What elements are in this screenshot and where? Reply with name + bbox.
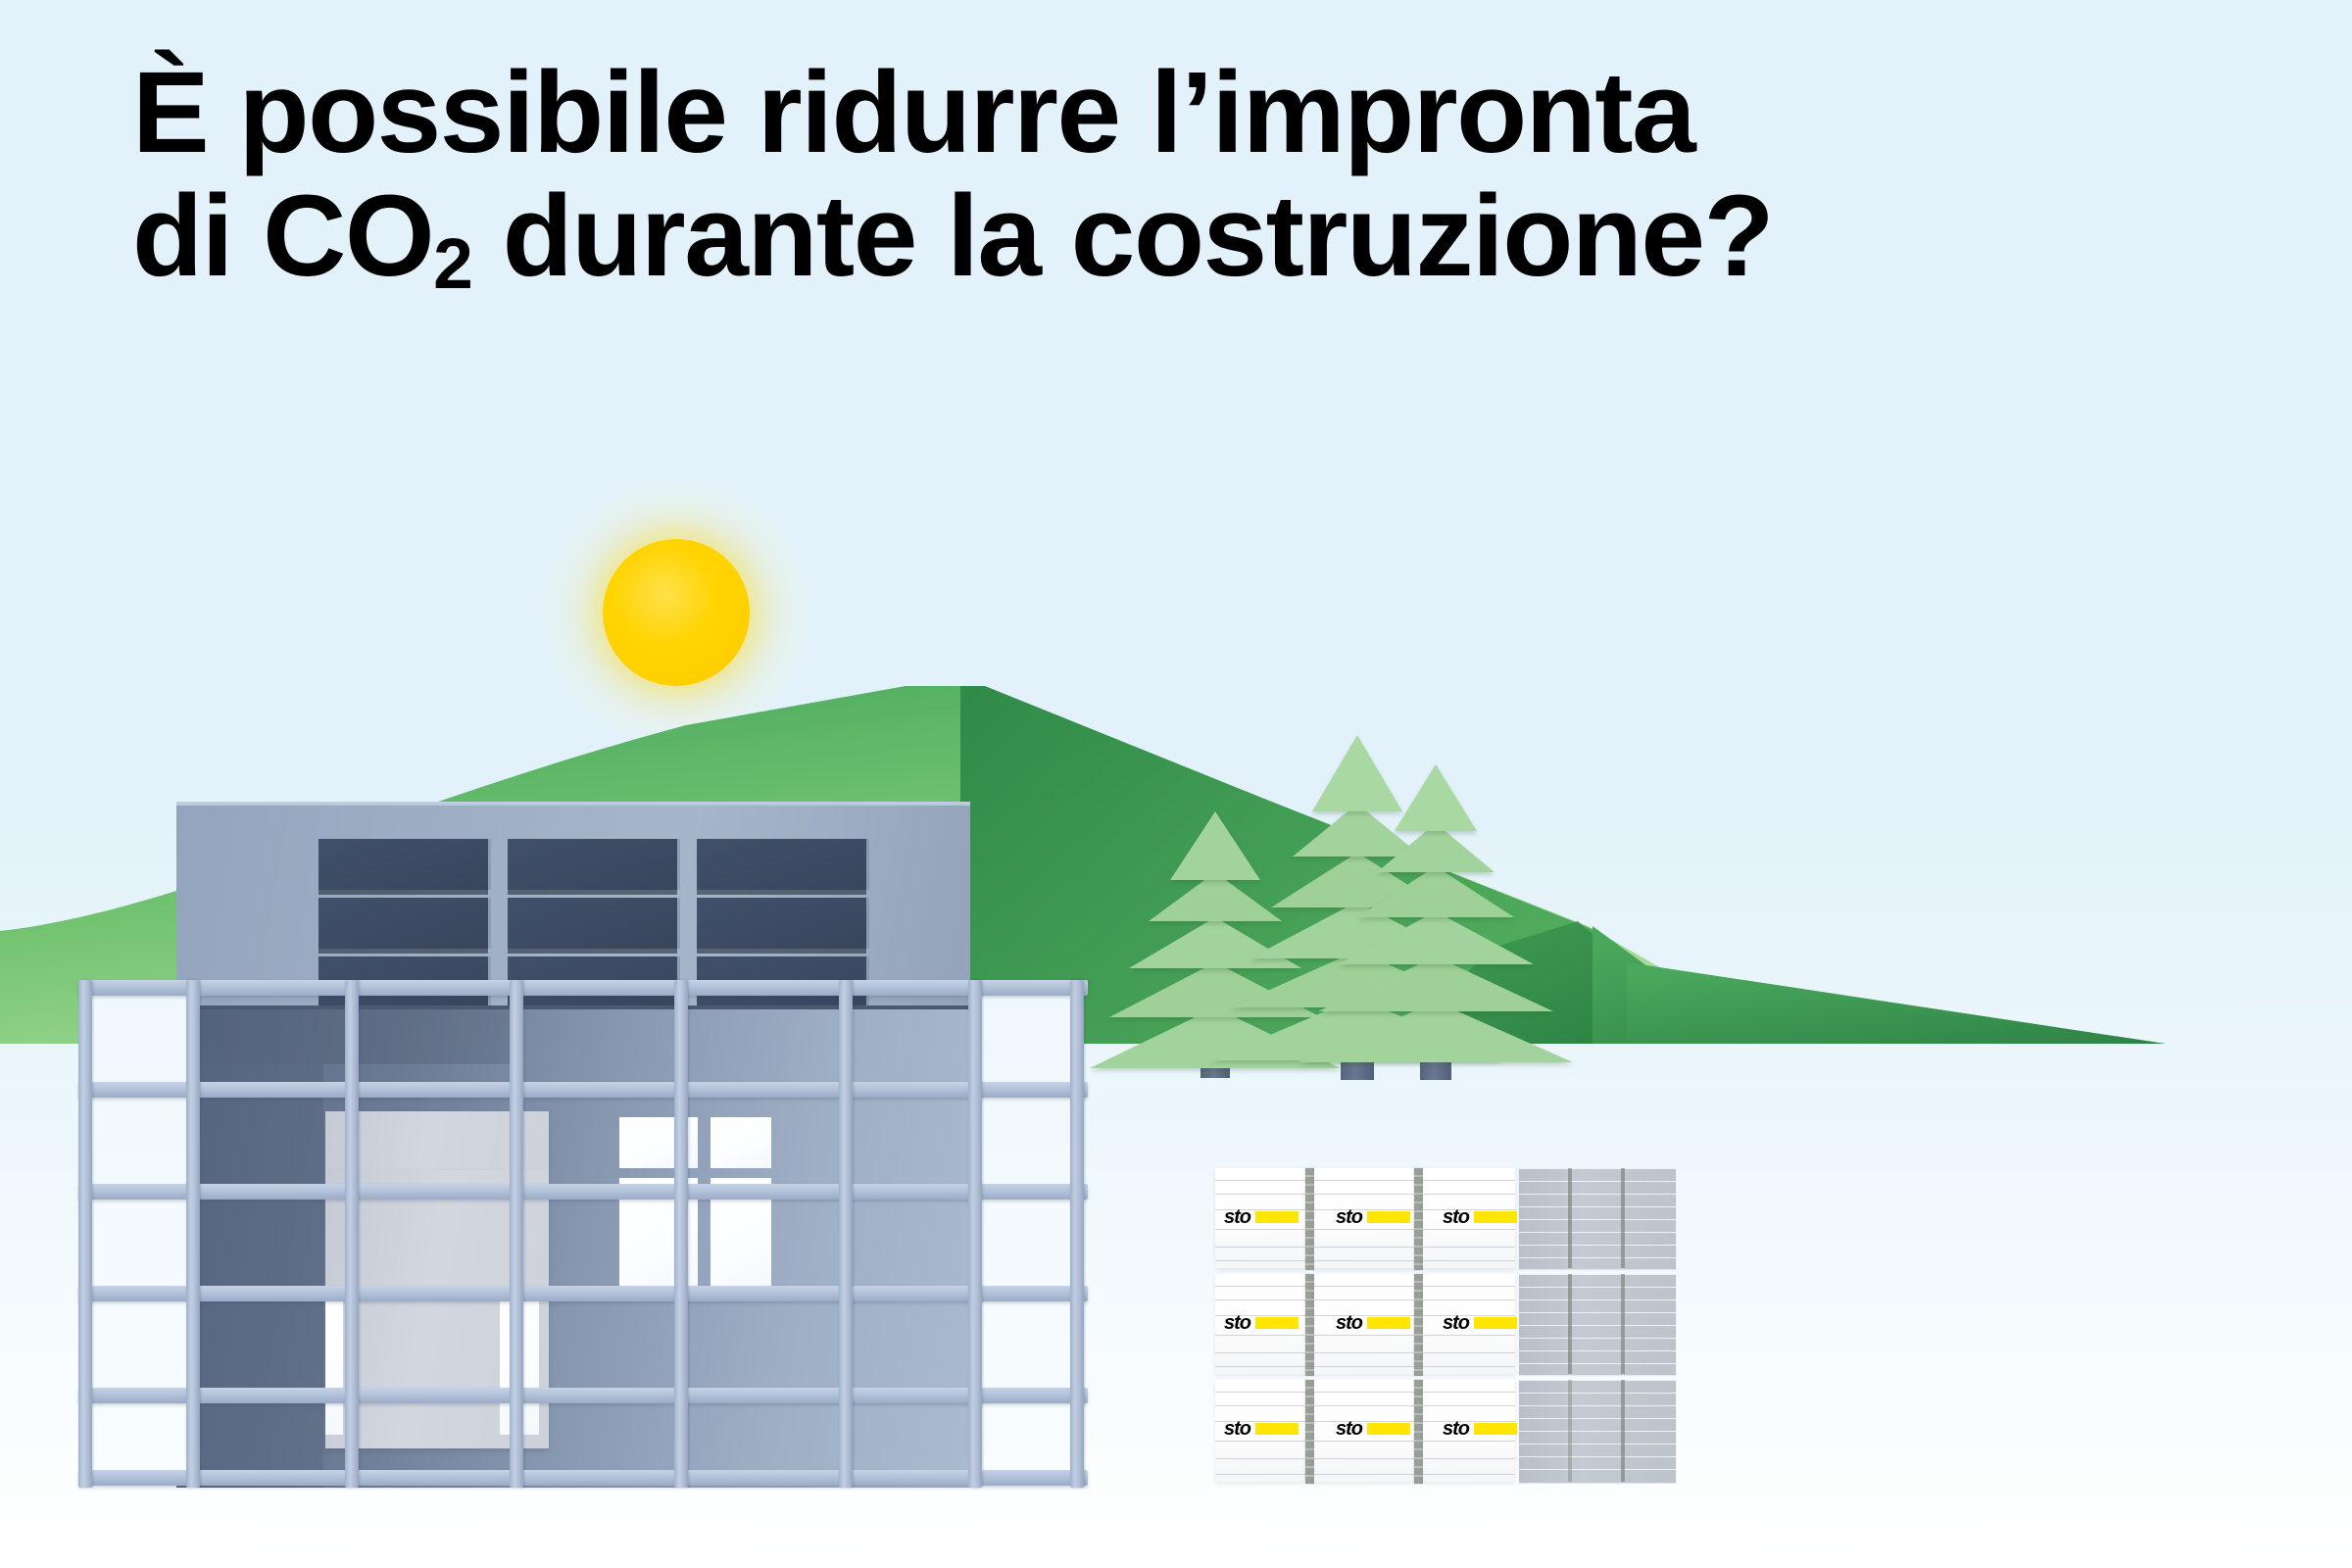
scaffold-post — [839, 980, 853, 1488]
sto-wordmark: sto — [1443, 1419, 1469, 1439]
scaffold-post — [510, 980, 523, 1488]
scaffold-post — [78, 980, 92, 1488]
scaffold-rail — [78, 1184, 1088, 1200]
scaffold-post — [345, 980, 359, 1488]
scaffold-post — [674, 980, 688, 1488]
sto-yellow-bar — [1474, 1423, 1517, 1435]
insulation-bundle: sto — [1423, 1380, 1515, 1482]
insulation-bundle: sto — [1215, 1168, 1305, 1268]
insulation-bundle: sto — [1314, 1274, 1416, 1374]
scaffold-post — [968, 980, 982, 1488]
sto-wordmark: sto — [1443, 1313, 1469, 1333]
pallet-strap — [1305, 1168, 1314, 1270]
sto-logo: sto — [1336, 1207, 1410, 1227]
illustration-canvas: sto sto sto — [0, 0, 2352, 1568]
insulation-bundle: sto — [1423, 1168, 1515, 1268]
scaffold-post — [186, 980, 200, 1488]
sto-wordmark: sto — [1336, 1419, 1362, 1439]
sto-yellow-bar — [1255, 1211, 1298, 1223]
sto-logo: sto — [1336, 1313, 1410, 1333]
sto-wordmark: sto — [1443, 1207, 1469, 1227]
sto-logo: sto — [1224, 1313, 1298, 1333]
board-stack — [1519, 1274, 1676, 1374]
tree-tier — [1395, 764, 1477, 831]
sto-logo: sto — [1443, 1207, 1517, 1227]
page-title: È possibile ridurre l’impronta di CO2 du… — [132, 51, 2210, 299]
scaffold-rail — [78, 1286, 1088, 1301]
sto-yellow-bar — [1255, 1423, 1298, 1435]
tree-tier — [1318, 956, 1553, 1011]
insulation-bundle: sto — [1215, 1380, 1305, 1482]
scaffold-bay — [86, 988, 200, 1482]
pallet-strap — [1305, 1274, 1314, 1376]
solar-panel — [318, 839, 488, 890]
insulation-board-pallet: sto sto sto — [1215, 1168, 1725, 1492]
insulation-bundle: sto — [1314, 1168, 1416, 1268]
insulation-bundle: sto — [1423, 1274, 1515, 1374]
pallet-strap — [1414, 1380, 1423, 1484]
scaffold-rail — [78, 1470, 1088, 1486]
headline-line-2: di CO2 durante la costruzione? — [132, 174, 2210, 298]
building-upper-block — [176, 806, 970, 1006]
solar-panel — [508, 839, 677, 890]
pallet-strap — [1414, 1274, 1423, 1376]
scaffold-post — [1070, 980, 1084, 1488]
sto-logo: sto — [1224, 1207, 1298, 1227]
sto-yellow-bar — [1367, 1211, 1410, 1223]
sto-wordmark: sto — [1224, 1207, 1250, 1227]
scaffold-rail — [78, 1082, 1088, 1098]
conifer-tree-right — [1298, 755, 1573, 1080]
scaffold-bay — [980, 988, 1082, 1482]
solar-panel — [318, 898, 488, 949]
board-stack — [1519, 1168, 1676, 1268]
facade-scaffolding — [78, 980, 1088, 1490]
sto-wordmark: sto — [1336, 1313, 1362, 1333]
scaffold-rail — [78, 1388, 1088, 1403]
pallet-strap — [1305, 1380, 1314, 1484]
sto-logo: sto — [1336, 1419, 1410, 1439]
sto-yellow-bar — [1367, 1317, 1410, 1329]
headline-line-1: È possibile ridurre l’impronta — [132, 48, 1694, 177]
sto-yellow-bar — [1255, 1317, 1298, 1329]
solar-panel — [697, 898, 866, 949]
insulation-bundle: sto — [1215, 1274, 1305, 1374]
sto-yellow-bar — [1474, 1211, 1517, 1223]
sto-logo: sto — [1443, 1419, 1517, 1439]
hill-facet-tail-b — [1627, 962, 2166, 1044]
tree-tier — [1338, 911, 1534, 964]
solar-panel — [508, 898, 677, 949]
sto-yellow-bar — [1367, 1423, 1410, 1435]
sto-logo: sto — [1443, 1313, 1517, 1333]
headline-line-2-prefix: di CO — [132, 171, 433, 301]
scaffold-rail — [78, 980, 1088, 996]
co2-subscript: 2 — [433, 223, 471, 304]
sto-wordmark: sto — [1336, 1207, 1362, 1227]
tree-tier — [1357, 866, 1514, 917]
sto-yellow-bar — [1474, 1317, 1517, 1329]
sto-wordmark: sto — [1224, 1313, 1250, 1333]
insulation-bundle: sto — [1314, 1380, 1416, 1482]
headline-line-2-suffix: durante la costruzione? — [471, 171, 1773, 301]
sto-wordmark: sto — [1224, 1419, 1250, 1439]
pallet-strap — [1414, 1168, 1423, 1270]
solar-panel — [697, 839, 866, 890]
board-stack — [1519, 1380, 1676, 1482]
sto-logo: sto — [1224, 1419, 1298, 1439]
sun-icon — [603, 539, 750, 686]
